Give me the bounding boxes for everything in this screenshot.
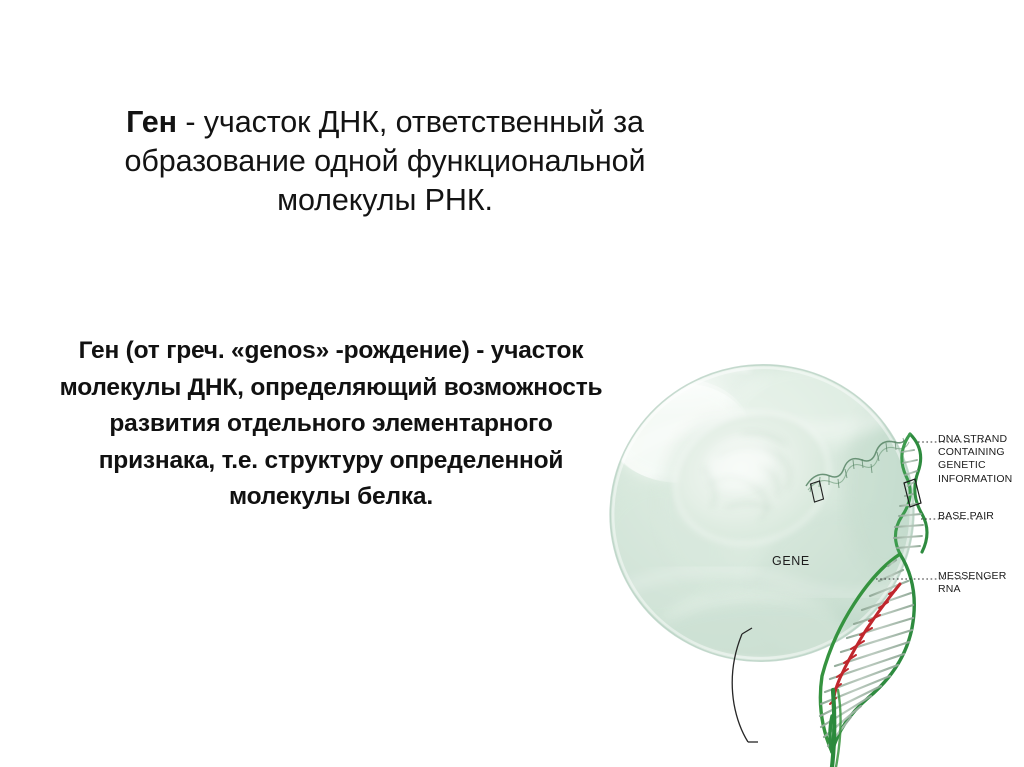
slide-canvas: Ген - участок ДНК, ответственный за обра… (0, 0, 1024, 767)
dna-strand-label: DNA STRAND CONTAINING GENETIC INFORMATIO… (938, 433, 1024, 486)
base-pair-label: BASE PAIR (938, 510, 1024, 523)
cell-dna-illustration: GENE DNA STRAND CONTAINING GENETIC INFOR… (600, 338, 1024, 767)
title-rest: - участок ДНК, ответственный за образова… (125, 105, 646, 217)
title-lead-word: Ген (126, 105, 177, 139)
gene-label: GENE (772, 554, 810, 568)
body-paragraph: Ген (от греч. «genos» -рождение) - участ… (48, 333, 614, 516)
cell-diagram-svg (600, 338, 1024, 767)
messenger-rna-label: MESSENGER RNA (938, 570, 1024, 596)
page-title: Ген - участок ДНК, ответственный за обра… (62, 103, 708, 220)
